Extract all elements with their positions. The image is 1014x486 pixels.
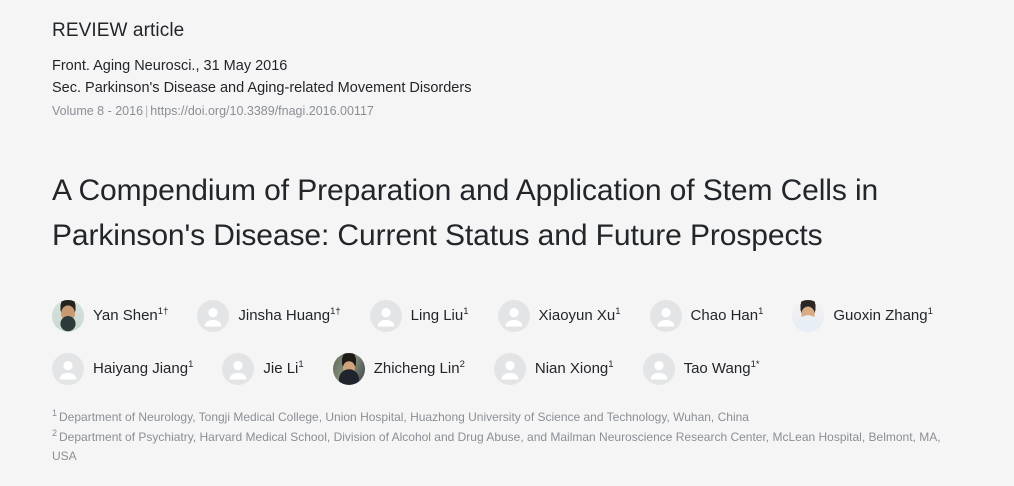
- author-affiliation-marker: 1: [298, 359, 303, 370]
- affiliation-item: 2Department of Psychiatry, Harvard Medic…: [52, 428, 966, 466]
- avatar: [197, 300, 229, 332]
- author-affiliation-marker: 1: [188, 359, 193, 370]
- author-name[interactable]: Yan Shen1†: [93, 306, 168, 326]
- volume-doi-line: Volume 8 - 2016|https://doi.org/10.3389/…: [52, 101, 966, 122]
- avatar: [643, 353, 675, 385]
- author-name[interactable]: Haiyang Jiang1: [93, 359, 193, 379]
- affiliation-marker: 2: [52, 428, 57, 438]
- author-row: Haiyang Jiang1 Jie Li1 Zhicheng Lin2 Nia…: [52, 349, 966, 389]
- author-name[interactable]: Guoxin Zhang1: [833, 306, 933, 326]
- author-item[interactable]: Zhicheng Lin2: [333, 353, 465, 385]
- author-affiliation-marker: 1: [928, 306, 933, 317]
- author-item[interactable]: Ling Liu1: [370, 300, 469, 332]
- author-affiliation-marker: 1: [463, 306, 468, 317]
- affiliation-marker: 1: [52, 408, 57, 418]
- affiliation-text: Department of Psychiatry, Harvard Medica…: [52, 430, 941, 463]
- author-affiliation-marker: 1†: [330, 306, 341, 317]
- author-item[interactable]: Yan Shen1†: [52, 300, 168, 332]
- author-name[interactable]: Xiaoyun Xu1: [539, 306, 621, 326]
- author-affiliation-marker: 1: [758, 306, 763, 317]
- author-item[interactable]: Jie Li1: [222, 353, 303, 385]
- avatar: [333, 353, 365, 385]
- author-affiliation-marker: 1†: [158, 306, 169, 317]
- author-name[interactable]: Nian Xiong1: [535, 359, 614, 379]
- journal-section-line: Sec. Parkinson's Disease and Aging-relat…: [52, 77, 966, 99]
- author-list: Yan Shen1† Jinsha Huang1† Ling Liu1 Xiao…: [52, 296, 966, 389]
- author-item[interactable]: Tao Wang1*: [643, 353, 760, 385]
- avatar: [650, 300, 682, 332]
- page-title: A Compendium of Preparation and Applicat…: [52, 168, 966, 258]
- author-name[interactable]: Ling Liu1: [411, 306, 469, 326]
- author-name[interactable]: Chao Han1: [691, 306, 764, 326]
- affiliation-text: Department of Neurology, Tongji Medical …: [59, 410, 749, 424]
- avatar: [222, 353, 254, 385]
- author-item[interactable]: Jinsha Huang1†: [197, 300, 340, 332]
- journal-citation-line: Front. Aging Neurosci., 31 May 2016: [52, 55, 966, 77]
- avatar: [52, 300, 84, 332]
- author-name[interactable]: Tao Wang1*: [684, 359, 760, 379]
- avatar: [498, 300, 530, 332]
- affiliation-list: 1Department of Neurology, Tongji Medical…: [52, 408, 966, 466]
- avatar: [52, 353, 84, 385]
- author-item[interactable]: Haiyang Jiang1: [52, 353, 193, 385]
- avatar: [370, 300, 402, 332]
- author-row: Yan Shen1† Jinsha Huang1† Ling Liu1 Xiao…: [52, 296, 966, 336]
- author-name[interactable]: Jie Li1: [263, 359, 303, 379]
- article-header-page: REVIEW article Front. Aging Neurosci., 3…: [0, 0, 1014, 486]
- avatar: [792, 300, 824, 332]
- author-item[interactable]: Chao Han1: [650, 300, 764, 332]
- author-name[interactable]: Zhicheng Lin2: [374, 359, 465, 379]
- volume-label: Volume 8 - 2016: [52, 104, 143, 118]
- author-affiliation-marker: 2: [460, 359, 465, 370]
- author-item[interactable]: Xiaoyun Xu1: [498, 300, 621, 332]
- article-type-label: REVIEW article: [52, 18, 966, 44]
- affiliation-item: 1Department of Neurology, Tongji Medical…: [52, 408, 966, 427]
- author-item[interactable]: Guoxin Zhang1: [792, 300, 933, 332]
- avatar: [494, 353, 526, 385]
- author-affiliation-marker: 1: [608, 359, 613, 370]
- author-item[interactable]: Nian Xiong1: [494, 353, 614, 385]
- author-affiliation-marker: 1: [615, 306, 620, 317]
- doi-link[interactable]: https://doi.org/10.3389/fnagi.2016.00117: [150, 104, 374, 118]
- author-affiliation-marker: 1*: [751, 359, 760, 370]
- author-name[interactable]: Jinsha Huang1†: [238, 306, 340, 326]
